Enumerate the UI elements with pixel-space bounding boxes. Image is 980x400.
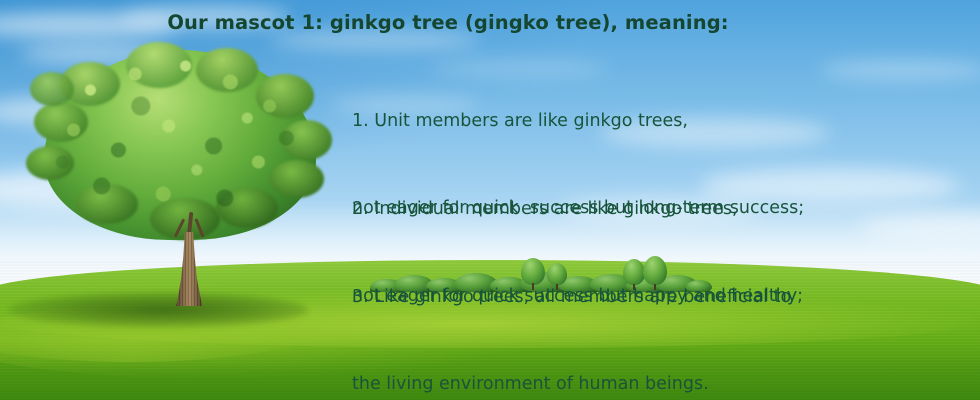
hedgerow [370, 266, 710, 292]
cloud-icon [600, 118, 830, 148]
branch [194, 218, 204, 238]
small-tree-icon [642, 256, 668, 290]
small-tree-icon [546, 264, 568, 290]
branch [174, 218, 185, 237]
cloud-icon [700, 168, 960, 204]
cloud-icon [120, 6, 290, 28]
cloud-icon [430, 60, 610, 76]
grass-shade [0, 340, 980, 400]
bush-icon [686, 280, 712, 292]
mascot-tree [30, 36, 330, 308]
cloud-icon [820, 60, 980, 80]
mascot-banner: Our mascot 1: ginkgo tree (gingko tree),… [0, 0, 980, 400]
cloud-icon [330, 96, 480, 114]
small-tree-icon [520, 258, 546, 290]
